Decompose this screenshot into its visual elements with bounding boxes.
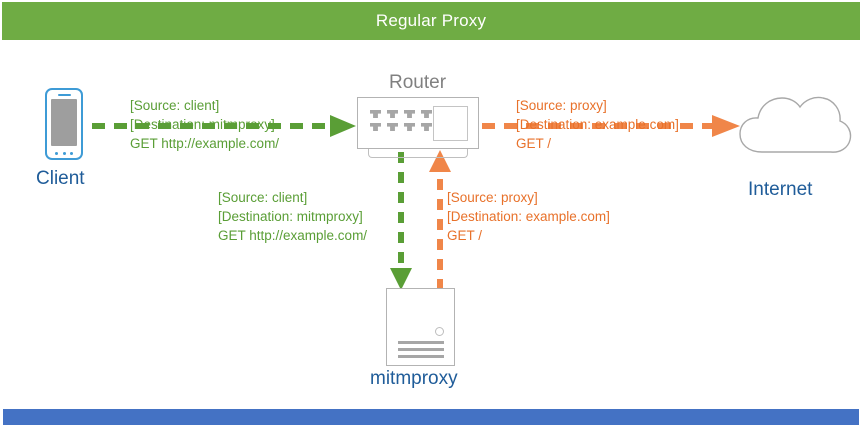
node-label-client: Client bbox=[36, 168, 85, 190]
flow-line-source: [Source: client] bbox=[218, 188, 367, 207]
node-label-router: Router bbox=[389, 72, 446, 94]
diagram-title-bar: Regular Proxy bbox=[2, 2, 860, 40]
diagram-footer-bar bbox=[3, 409, 859, 425]
cloud-icon bbox=[735, 96, 838, 154]
flow-line-request: GET http://example.com/ bbox=[130, 134, 279, 153]
document-icon bbox=[386, 288, 455, 366]
flow-line-destination: [Destination: mitmproxy] bbox=[130, 115, 279, 134]
router-ports bbox=[370, 110, 432, 131]
smartphone-icon bbox=[45, 88, 83, 160]
flow-line-request: GET / bbox=[516, 134, 679, 153]
diagram-canvas: Regular Proxy bbox=[0, 0, 862, 428]
phone-home-dots bbox=[55, 152, 73, 155]
node-label-internet: Internet bbox=[748, 179, 812, 201]
flow-line-source: [Source: proxy] bbox=[447, 188, 610, 207]
arrow-router-to-mitmproxy bbox=[390, 152, 412, 290]
router-icon bbox=[357, 97, 479, 149]
flow-line-request: GET / bbox=[447, 226, 610, 245]
node-label-mitmproxy: mitmproxy bbox=[370, 368, 458, 390]
flow-label-router-to-mitmproxy: [Source: client] [Destination: mitmproxy… bbox=[218, 188, 367, 245]
flow-label-mitmproxy-to-router: [Source: proxy] [Destination: example.co… bbox=[447, 188, 610, 245]
document-circle bbox=[435, 327, 444, 336]
flow-line-source: [Source: proxy] bbox=[516, 96, 679, 115]
flow-line-destination: [Destination: example.com] bbox=[516, 115, 679, 134]
document-line bbox=[398, 348, 444, 351]
flow-line-request: GET http://example.com/ bbox=[218, 226, 367, 245]
flow-label-router-to-internet: [Source: proxy] [Destination: example.co… bbox=[516, 96, 679, 153]
document-line bbox=[398, 355, 444, 358]
router-stand bbox=[368, 149, 468, 158]
router-arrows-box bbox=[433, 106, 468, 141]
document-line bbox=[398, 341, 444, 344]
phone-screen bbox=[51, 99, 77, 146]
flow-line-destination: [Destination: example.com] bbox=[447, 207, 610, 226]
page-title: Regular Proxy bbox=[376, 11, 486, 31]
flow-line-destination: [Destination: mitmproxy] bbox=[218, 207, 367, 226]
flow-line-source: [Source: client] bbox=[130, 96, 279, 115]
phone-speaker bbox=[58, 94, 71, 96]
flow-label-client-to-router: [Source: client] [Destination: mitmproxy… bbox=[130, 96, 279, 153]
